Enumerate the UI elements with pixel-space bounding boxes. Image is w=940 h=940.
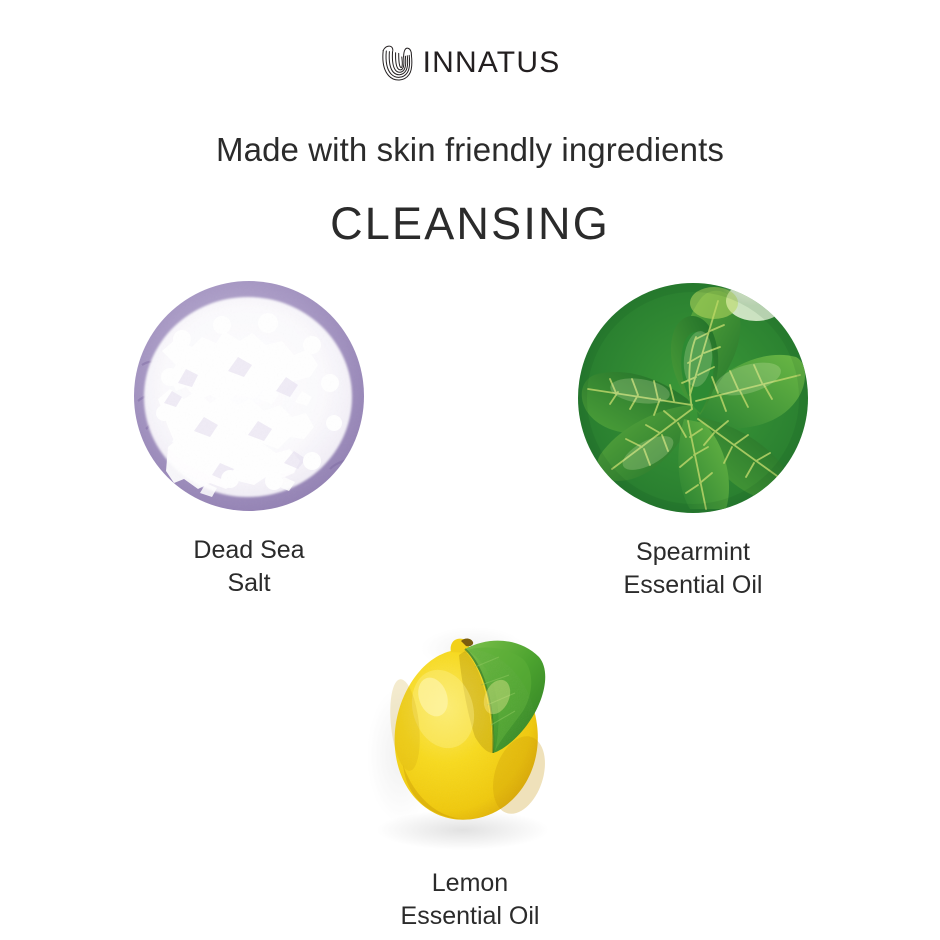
- dead-sea-salt-photo: [134, 281, 364, 511]
- spearmint-leaves-photo: [578, 283, 808, 513]
- brand-header: INNATUS: [0, 44, 940, 82]
- ingredient-label: Spearmint Essential Oil: [578, 536, 808, 602]
- tagline: Made with skin friendly ingredients: [0, 131, 940, 169]
- ingredient-label: Lemon Essential Oil: [355, 867, 585, 933]
- ingredient-label: Dead Sea Salt: [134, 534, 364, 600]
- ingredient-label-line2: Essential Oil: [578, 569, 808, 602]
- lemon-fruit-photo: [355, 605, 585, 855]
- ingredient-poster: INNATUS Made with skin friendly ingredie…: [0, 0, 940, 940]
- ingredient-label-line2: Essential Oil: [355, 900, 585, 933]
- ingredient-label-line1: Spearmint: [636, 538, 750, 566]
- ingredient-lemon: Lemon Essential Oil: [355, 605, 585, 933]
- ingredient-dead-sea-salt: Dead Sea Salt: [134, 281, 364, 600]
- ingredient-label-line1: Dead Sea: [193, 536, 304, 564]
- ingredient-label-line1: Lemon: [432, 869, 508, 897]
- brand-name: INNATUS: [423, 48, 561, 78]
- ingredient-spearmint: Spearmint Essential Oil: [578, 283, 808, 602]
- ingredient-label-line2: Salt: [134, 567, 364, 600]
- shell-wave-logo-icon: [380, 44, 414, 82]
- page-title: CLEANSING: [0, 198, 940, 250]
